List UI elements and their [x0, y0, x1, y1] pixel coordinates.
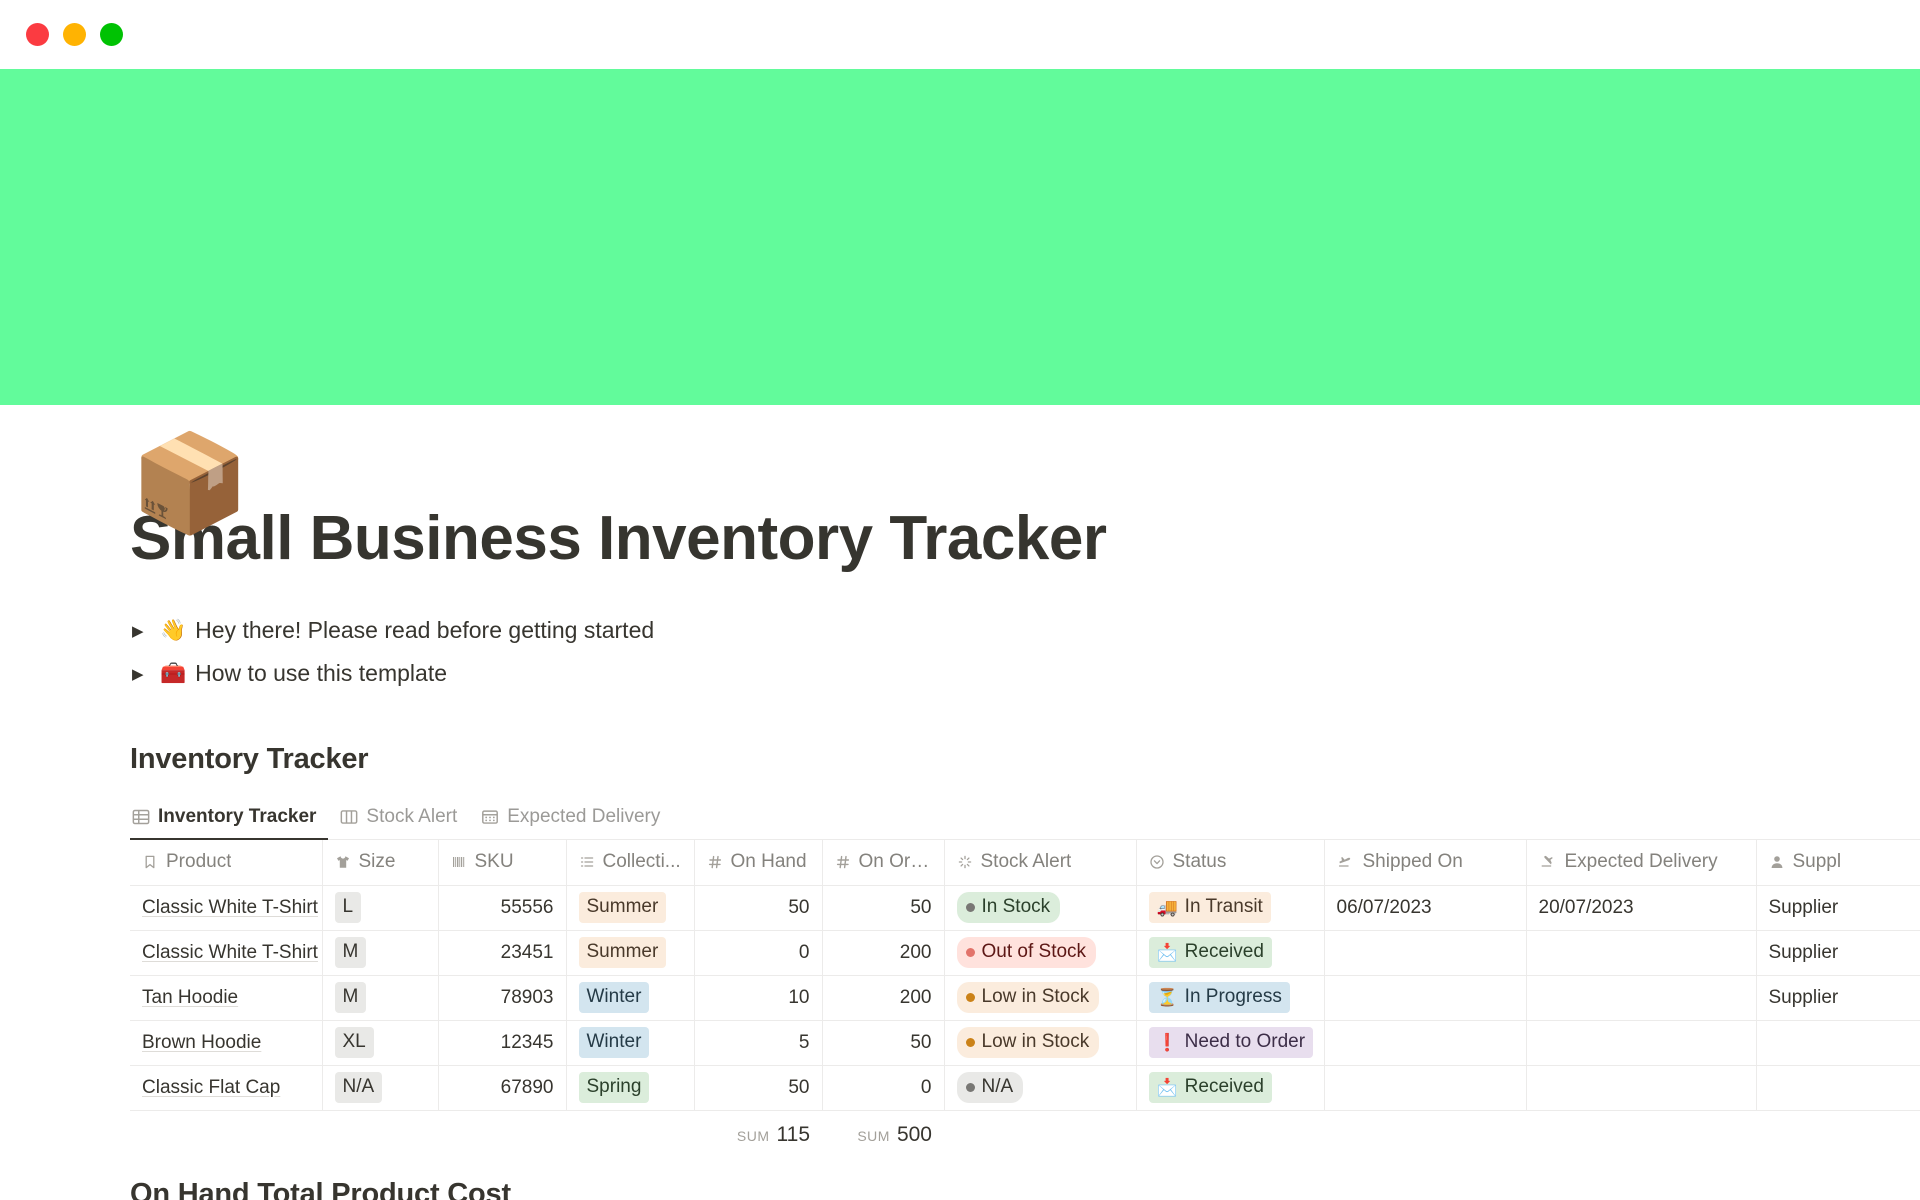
summary-on-order[interactable]: SUM500: [822, 1110, 944, 1160]
cell-product[interactable]: Classic Flat Cap: [130, 1065, 322, 1110]
table-row[interactable]: Classic Flat Cap N/A 67890 Spring 50 0 N…: [130, 1065, 1920, 1110]
cell-on-order[interactable]: 0: [822, 1065, 944, 1110]
tab-label: Expected Delivery: [507, 806, 660, 828]
cell-sku[interactable]: 78903: [438, 975, 566, 1020]
arrival-icon: [1539, 854, 1557, 870]
summary-spacer: [1756, 1110, 1920, 1160]
stock-alert-badge: In Stock: [957, 892, 1061, 923]
cell-sku[interactable]: 67890: [438, 1065, 566, 1110]
cell-size[interactable]: N/A: [322, 1065, 438, 1110]
status-dot-icon: [966, 903, 975, 912]
cell-supplier[interactable]: [1756, 1020, 1920, 1065]
tab-stock-alert[interactable]: Stock Alert: [328, 795, 469, 839]
next-section-heading: On Hand Total Product Cost: [130, 1178, 1920, 1200]
chevron-right-icon[interactable]: ▶: [132, 665, 160, 683]
cell-product[interactable]: Classic White T-Shirt: [130, 930, 322, 975]
size-badge: M: [335, 982, 367, 1013]
cell-on-hand[interactable]: 5: [694, 1020, 822, 1065]
column-header-label: Status: [1173, 851, 1227, 873]
departure-icon: [1337, 854, 1355, 870]
status-dot-icon: [966, 948, 975, 957]
toggle-item-label: How to use this template: [195, 660, 447, 687]
column-header-supplier[interactable]: Suppl: [1756, 840, 1920, 885]
window-minimize-button[interactable]: [63, 23, 86, 46]
cell-collection[interactable]: Winter: [566, 1020, 694, 1065]
cell-status[interactable]: 🚚In Transit: [1136, 885, 1324, 930]
cell-shipped-on[interactable]: 06/07/2023: [1324, 885, 1526, 930]
cell-expected-delivery[interactable]: 20/07/2023: [1526, 885, 1756, 930]
cell-expected-delivery[interactable]: [1526, 1065, 1756, 1110]
cell-stock-alert[interactable]: In Stock: [944, 885, 1136, 930]
toggle-item-welcome[interactable]: ▶ 👋 Hey there! Please read before gettin…: [130, 609, 1920, 652]
cell-status[interactable]: 📩Received: [1136, 1065, 1324, 1110]
status-label: Received: [1185, 940, 1264, 965]
stock-alert-label: Low in Stock: [982, 1030, 1090, 1055]
cell-on-order[interactable]: 50: [822, 1020, 944, 1065]
size-badge: N/A: [335, 1072, 383, 1103]
tab-label: Inventory Tracker: [158, 806, 316, 828]
column-header-label: Shipped On: [1363, 851, 1463, 873]
cell-size[interactable]: M: [322, 975, 438, 1020]
table-icon: [132, 808, 150, 826]
size-badge: M: [335, 937, 367, 968]
column-header-label: Suppl: [1793, 851, 1842, 873]
collection-badge: Winter: [579, 1027, 650, 1058]
size-badge: L: [335, 892, 362, 923]
cell-stock-alert[interactable]: Low in Stock: [944, 1020, 1136, 1065]
bookmark-icon: [142, 854, 158, 870]
stock-alert-label: Out of Stock: [982, 940, 1087, 965]
stock-alert-badge: Out of Stock: [957, 937, 1097, 968]
column-header-label: Product: [166, 851, 231, 873]
summary-on-hand-label: SUM: [737, 1128, 770, 1144]
cell-product[interactable]: Tan Hoodie: [130, 975, 322, 1020]
tshirt-icon: [335, 854, 351, 870]
cell-size[interactable]: XL: [322, 1020, 438, 1065]
envelope-emoji-icon: 📩: [1157, 1077, 1178, 1099]
table-row[interactable]: Brown Hoodie XL 12345 Winter 5 50 Low in…: [130, 1020, 1920, 1065]
cell-shipped-on[interactable]: [1324, 1020, 1526, 1065]
list-icon: [579, 854, 595, 870]
column-header-sku[interactable]: SKU: [438, 840, 566, 885]
cell-supplier[interactable]: [1756, 1065, 1920, 1110]
formula-icon: [957, 854, 973, 870]
table-row[interactable]: Tan Hoodie M 78903 Winter 10 200 Low in …: [130, 975, 1920, 1020]
envelope-emoji-icon: 📩: [1157, 942, 1178, 964]
summary-spacer: [944, 1110, 1136, 1160]
toggle-list: ▶ 👋 Hey there! Please read before gettin…: [130, 609, 1920, 695]
stock-alert-badge: Low in Stock: [957, 1027, 1100, 1058]
collection-badge: Summer: [579, 937, 667, 968]
summary-spacer: [1136, 1110, 1324, 1160]
column-header-on-order[interactable]: On Order: [822, 840, 944, 885]
product-link[interactable]: Classic White T-Shirt: [142, 942, 318, 963]
status-dot-icon: [966, 993, 975, 1002]
cell-on-hand[interactable]: 10: [694, 975, 822, 1020]
cell-sku[interactable]: 23451: [438, 930, 566, 975]
column-header-label: Size: [359, 851, 396, 873]
cell-supplier[interactable]: Supplier: [1756, 930, 1920, 975]
page-content: 📦 Small Business Inventory Tracker ▶ 👋 H…: [0, 505, 1920, 1200]
cell-shipped-on[interactable]: [1324, 930, 1526, 975]
column-header-shipped-on[interactable]: Shipped On: [1324, 840, 1526, 885]
inventory-table: Product Size SKU Collecti... On Hand On …: [130, 840, 1920, 1160]
cell-shipped-on[interactable]: [1324, 1065, 1526, 1110]
status-label: In Progress: [1185, 985, 1282, 1010]
select-icon: [1149, 854, 1165, 870]
status-label: Received: [1185, 1075, 1264, 1100]
collection-badge: Summer: [579, 892, 667, 923]
number-icon: [707, 854, 723, 870]
cell-stock-alert[interactable]: Out of Stock: [944, 930, 1136, 975]
column-header-size[interactable]: Size: [322, 840, 438, 885]
cell-expected-delivery[interactable]: [1526, 930, 1756, 975]
cell-collection[interactable]: Winter: [566, 975, 694, 1020]
column-header-label: On Order: [859, 851, 932, 873]
exclamation-emoji-icon: ❗: [1157, 1032, 1178, 1054]
stock-alert-label: In Stock: [982, 895, 1051, 920]
cell-collection[interactable]: Summer: [566, 930, 694, 975]
cell-sku[interactable]: 12345: [438, 1020, 566, 1065]
cell-product[interactable]: Classic White T-Shirt: [130, 885, 322, 930]
cell-expected-delivery[interactable]: [1526, 975, 1756, 1020]
window-close-button[interactable]: [26, 23, 49, 46]
chevron-right-icon[interactable]: ▶: [132, 622, 160, 640]
column-header-label: Expected Delivery: [1565, 851, 1718, 873]
column-header-status[interactable]: Status: [1136, 840, 1324, 885]
page-title: Small Business Inventory Tracker: [130, 505, 1920, 573]
stock-alert-label: Low in Stock: [982, 985, 1090, 1010]
table-body: Classic White T-Shirt L 55556 Summer 50 …: [130, 885, 1920, 1160]
cell-status[interactable]: 📩Received: [1136, 930, 1324, 975]
toolbox-emoji-icon: 🧰: [160, 662, 186, 686]
cell-on-order[interactable]: 50: [822, 885, 944, 930]
collection-badge: Spring: [579, 1072, 650, 1103]
page-icon[interactable]: 📦: [130, 436, 250, 532]
status-badge: 🚚In Transit: [1149, 892, 1271, 923]
cell-expected-delivery[interactable]: [1526, 1020, 1756, 1065]
summary-spacer: [566, 1110, 694, 1160]
column-header-label: SKU: [475, 851, 514, 873]
board-icon: [340, 808, 358, 826]
cell-on-hand[interactable]: 50: [694, 885, 822, 930]
column-header-on-hand[interactable]: On Hand: [694, 840, 822, 885]
cell-status[interactable]: ⏳In Progress: [1136, 975, 1324, 1020]
column-header-label: Stock Alert: [981, 851, 1072, 873]
column-header-collection[interactable]: Collecti...: [566, 840, 694, 885]
table-row[interactable]: Classic White T-Shirt M 23451 Summer 0 2…: [130, 930, 1920, 975]
summary-on-order-label: SUM: [857, 1128, 890, 1144]
summary-spacer: [322, 1110, 438, 1160]
table-summary-row: SUM115 SUM500: [130, 1110, 1920, 1160]
cell-status[interactable]: ❗Need to Order: [1136, 1020, 1324, 1065]
cell-sku[interactable]: 55556: [438, 885, 566, 930]
stock-alert-badge: Low in Stock: [957, 982, 1100, 1013]
status-label: Need to Order: [1185, 1030, 1305, 1055]
tab-inventory-tracker[interactable]: Inventory Tracker: [130, 795, 328, 839]
summary-on-order-value: 500: [897, 1123, 932, 1146]
cell-on-hand[interactable]: 0: [694, 930, 822, 975]
summary-spacer: [130, 1110, 322, 1160]
database-view-tabs: Inventory Tracker Stock Alert Expected D…: [130, 796, 1920, 840]
number-icon: [835, 854, 851, 870]
cell-collection[interactable]: Spring: [566, 1065, 694, 1110]
status-label: In Transit: [1185, 895, 1263, 920]
cell-supplier[interactable]: Supplier: [1756, 975, 1920, 1020]
database-title: Inventory Tracker: [130, 743, 1920, 776]
summary-spacer: [438, 1110, 566, 1160]
hourglass-emoji-icon: ⏳: [1157, 987, 1178, 1009]
size-badge: XL: [335, 1027, 374, 1058]
product-link[interactable]: Classic White T-Shirt: [142, 897, 318, 918]
cell-stock-alert[interactable]: N/A: [944, 1065, 1136, 1110]
column-header-label: On Hand: [731, 851, 807, 873]
status-badge: 📩Received: [1149, 937, 1272, 968]
table-row[interactable]: Classic White T-Shirt L 55556 Summer 50 …: [130, 885, 1920, 930]
toggle-item-how-to-use[interactable]: ▶ 🧰 How to use this template: [130, 652, 1920, 695]
person-icon: [1769, 854, 1785, 870]
column-header-expected-delivery[interactable]: Expected Delivery: [1526, 840, 1756, 885]
product-link[interactable]: Tan Hoodie: [142, 987, 238, 1008]
status-badge: ❗Need to Order: [1149, 1027, 1314, 1058]
cell-on-order[interactable]: 200: [822, 975, 944, 1020]
page-cover[interactable]: [0, 69, 1920, 405]
summary-on-hand-value: 115: [777, 1123, 810, 1146]
tab-label: Stock Alert: [366, 806, 457, 828]
summary-spacer: [1324, 1110, 1526, 1160]
column-header-product[interactable]: Product: [130, 840, 322, 885]
truck-emoji-icon: 🚚: [1157, 897, 1178, 919]
wave-emoji-icon: 👋: [160, 619, 186, 643]
cell-size[interactable]: L: [322, 885, 438, 930]
status-badge: ⏳In Progress: [1149, 982, 1290, 1013]
cell-on-hand[interactable]: 50: [694, 1065, 822, 1110]
stock-alert-label: N/A: [982, 1075, 1014, 1100]
cell-shipped-on[interactable]: [1324, 975, 1526, 1020]
summary-on-hand[interactable]: SUM115: [694, 1110, 822, 1160]
cell-product[interactable]: Brown Hoodie: [130, 1020, 322, 1065]
cell-size[interactable]: M: [322, 930, 438, 975]
status-dot-icon: [966, 1083, 975, 1092]
product-link[interactable]: Classic Flat Cap: [142, 1077, 280, 1098]
window-title-bar: [0, 0, 1920, 69]
cell-collection[interactable]: Summer: [566, 885, 694, 930]
status-dot-icon: [966, 1038, 975, 1047]
status-badge: 📩Received: [1149, 1072, 1272, 1103]
barcode-icon: [451, 854, 467, 870]
stock-alert-badge: N/A: [957, 1072, 1024, 1103]
toggle-item-label: Hey there! Please read before getting st…: [195, 617, 654, 644]
column-header-label: Collecti...: [603, 851, 681, 873]
cell-stock-alert[interactable]: Low in Stock: [944, 975, 1136, 1020]
table-header-row: Product Size SKU Collecti... On Hand On …: [130, 840, 1920, 885]
product-link[interactable]: Brown Hoodie: [142, 1032, 261, 1053]
cell-on-order[interactable]: 200: [822, 930, 944, 975]
cell-supplier[interactable]: Supplier: [1756, 885, 1920, 930]
column-header-stock-alert[interactable]: Stock Alert: [944, 840, 1136, 885]
calendar-icon: [481, 808, 499, 826]
collection-badge: Winter: [579, 982, 650, 1013]
summary-spacer: [1526, 1110, 1756, 1160]
tab-expected-delivery[interactable]: Expected Delivery: [469, 795, 672, 839]
window-maximize-button[interactable]: [100, 23, 123, 46]
